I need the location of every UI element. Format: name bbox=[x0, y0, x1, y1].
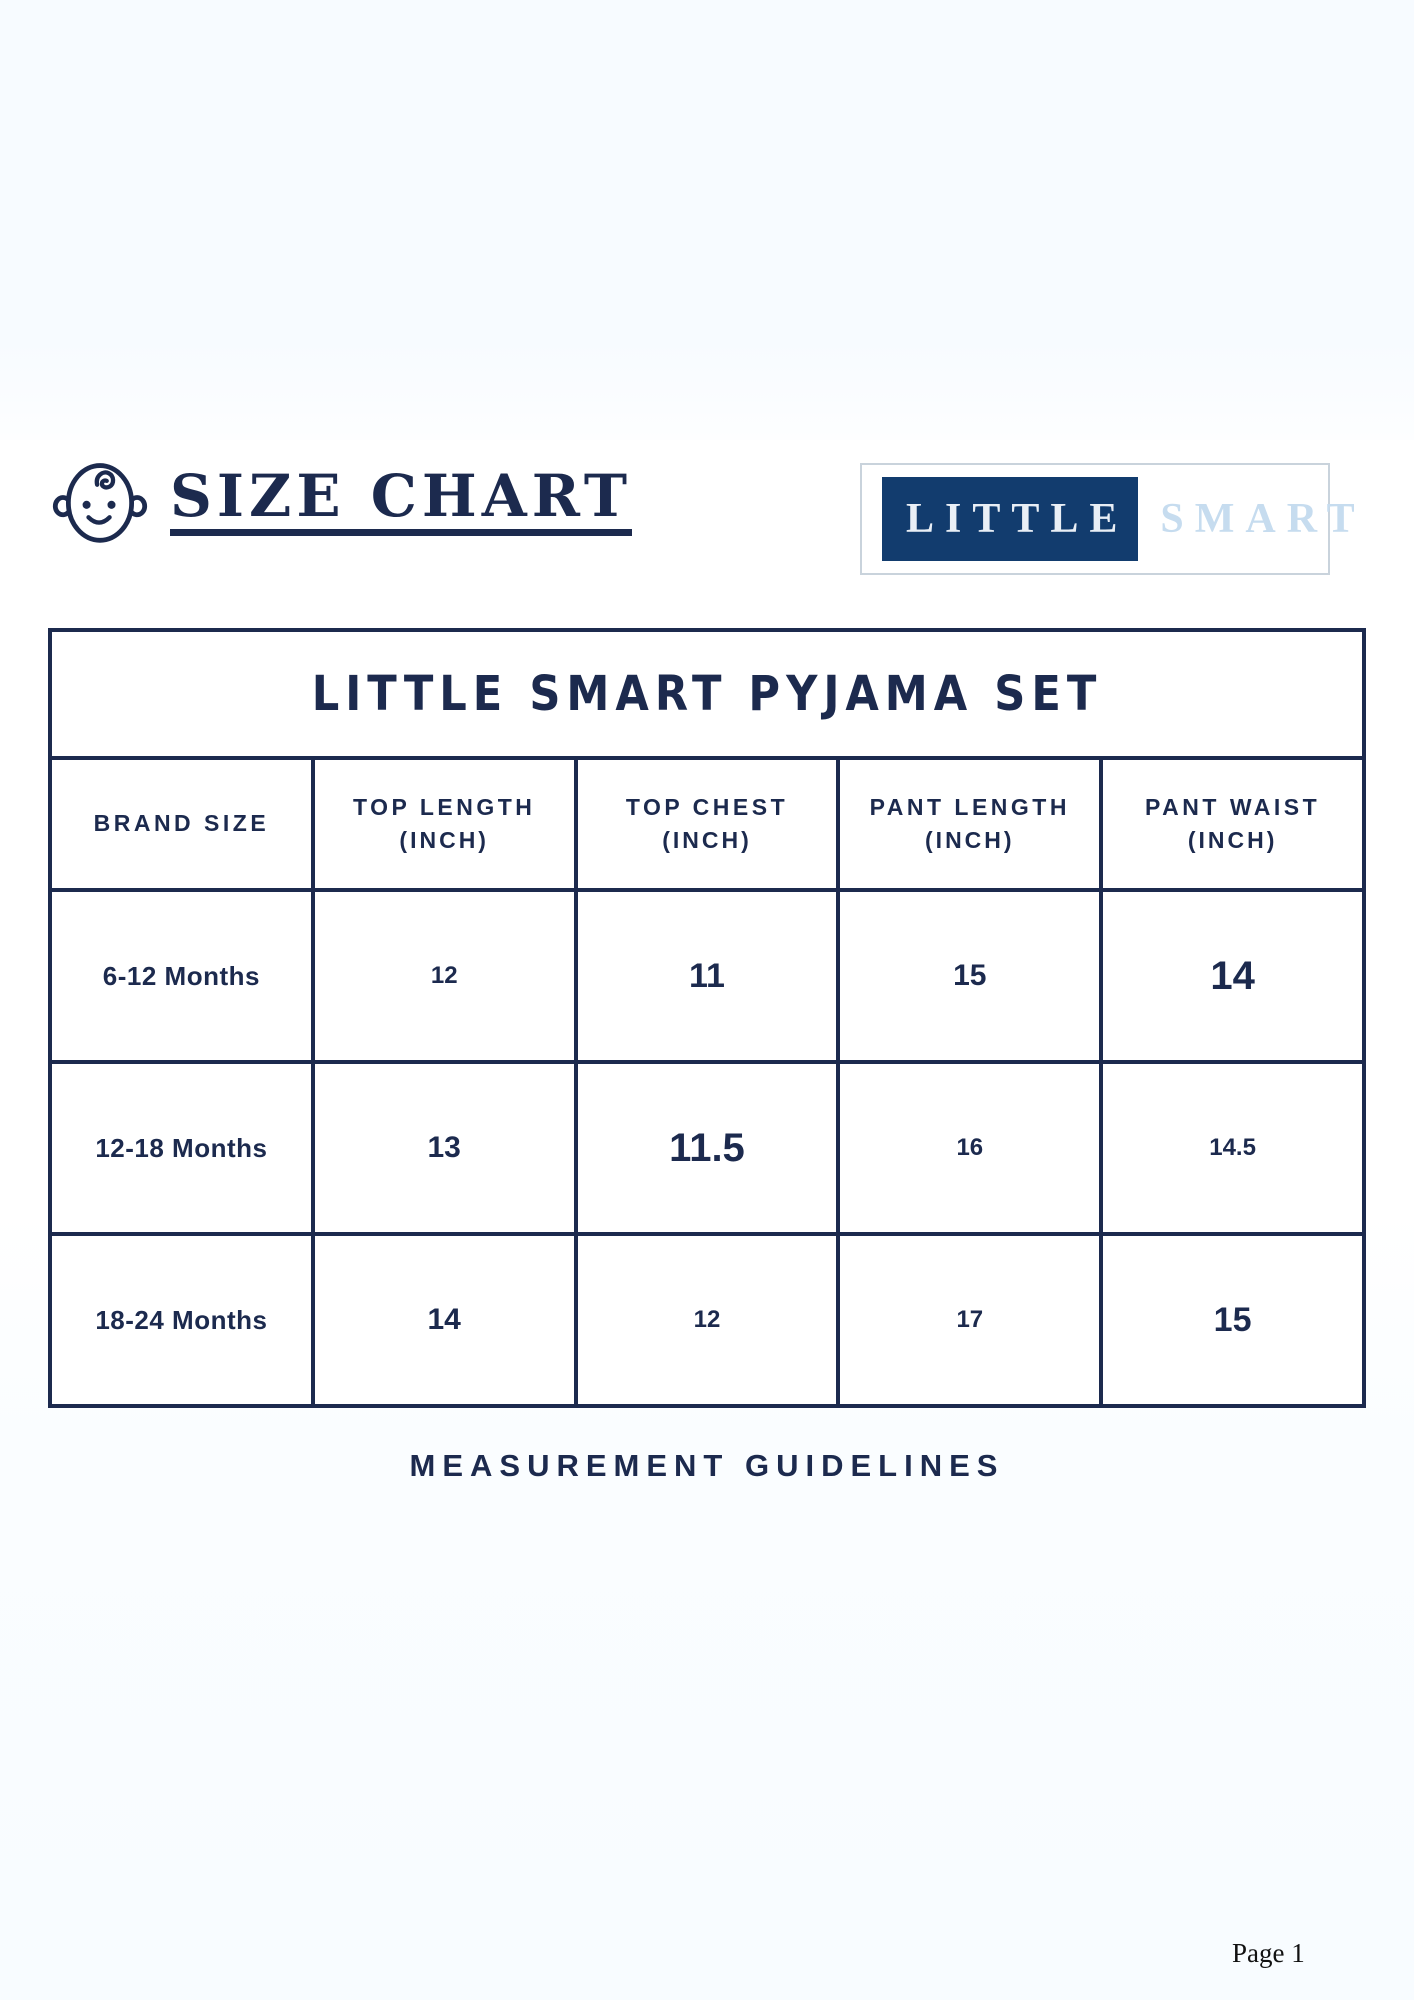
brand-logo: LITTLE SMART bbox=[860, 463, 1330, 575]
cell-pant-waist: 15 bbox=[1101, 1234, 1364, 1406]
column-header-top-chest: TOP CHEST (INCH) bbox=[576, 758, 839, 890]
table-row: 18-24 Months 14 12 17 15 bbox=[50, 1234, 1364, 1406]
cell-pant-waist: 14.5 bbox=[1101, 1062, 1364, 1234]
column-header-label: TOP CHEST bbox=[626, 794, 788, 820]
column-header-pant-waist: PANT WAIST (INCH) bbox=[1101, 758, 1364, 890]
column-header-label: BRAND SIZE bbox=[94, 810, 270, 836]
column-header-top-length: TOP LENGTH (INCH) bbox=[313, 758, 576, 890]
header-brand-group: SIZE CHART bbox=[52, 455, 632, 547]
column-header-unit: (INCH) bbox=[846, 824, 1093, 857]
table-row: 12-18 Months 13 11.5 16 14.5 bbox=[50, 1062, 1364, 1234]
column-header-brand-size: BRAND SIZE bbox=[50, 758, 313, 890]
column-header-unit: (INCH) bbox=[321, 824, 568, 857]
cell-brand-size: 12-18 Months bbox=[50, 1062, 313, 1234]
cell-pant-waist: 14 bbox=[1101, 890, 1364, 1062]
cell-pant-length: 16 bbox=[838, 1062, 1101, 1234]
cell-brand-size: 18-24 Months bbox=[50, 1234, 313, 1406]
page-number: Page 1 bbox=[1232, 1938, 1414, 1969]
column-header-label: PANT LENGTH bbox=[870, 794, 1070, 820]
size-chart-table: LITTLE SMART PYJAMA SET BRAND SIZE TOP L… bbox=[48, 628, 1366, 1408]
measurement-guidelines-caption: MEASUREMENT GUIDELINES bbox=[0, 1448, 1414, 1484]
table-title: LITTLE SMART PYJAMA SET bbox=[50, 630, 1364, 758]
cell-top-length: 14 bbox=[313, 1234, 576, 1406]
cell-pant-length: 15 bbox=[838, 890, 1101, 1062]
table-title-row: LITTLE SMART PYJAMA SET bbox=[50, 630, 1364, 758]
page-title: SIZE CHART bbox=[170, 466, 632, 536]
logo-word-smart: SMART bbox=[1160, 498, 1365, 540]
column-header-pant-length: PANT LENGTH (INCH) bbox=[838, 758, 1101, 890]
column-header-unit: (INCH) bbox=[584, 824, 831, 857]
logo-word-little: LITTLE bbox=[882, 477, 1138, 561]
size-chart-sheet: SIZE CHART LITTLE SMART LITTLE SMART PYJ… bbox=[0, 0, 1414, 2000]
cell-top-length: 12 bbox=[313, 890, 576, 1062]
cell-pant-length: 17 bbox=[838, 1234, 1101, 1406]
cell-brand-size: 6-12 Months bbox=[50, 890, 313, 1062]
column-header-label: TOP LENGTH bbox=[353, 794, 535, 820]
cell-top-chest: 11 bbox=[576, 890, 839, 1062]
baby-face-icon bbox=[52, 455, 148, 547]
column-header-unit: (INCH) bbox=[1109, 824, 1356, 857]
page-header: SIZE CHART LITTLE SMART bbox=[0, 455, 1414, 585]
cell-top-chest: 11.5 bbox=[576, 1062, 839, 1234]
column-header-label: PANT WAIST bbox=[1145, 794, 1320, 820]
cell-top-chest: 12 bbox=[576, 1234, 839, 1406]
cell-top-length: 13 bbox=[313, 1062, 576, 1234]
table-header-row: BRAND SIZE TOP LENGTH (INCH) TOP CHEST (… bbox=[50, 758, 1364, 890]
table-row: 6-12 Months 12 11 15 14 bbox=[50, 890, 1364, 1062]
